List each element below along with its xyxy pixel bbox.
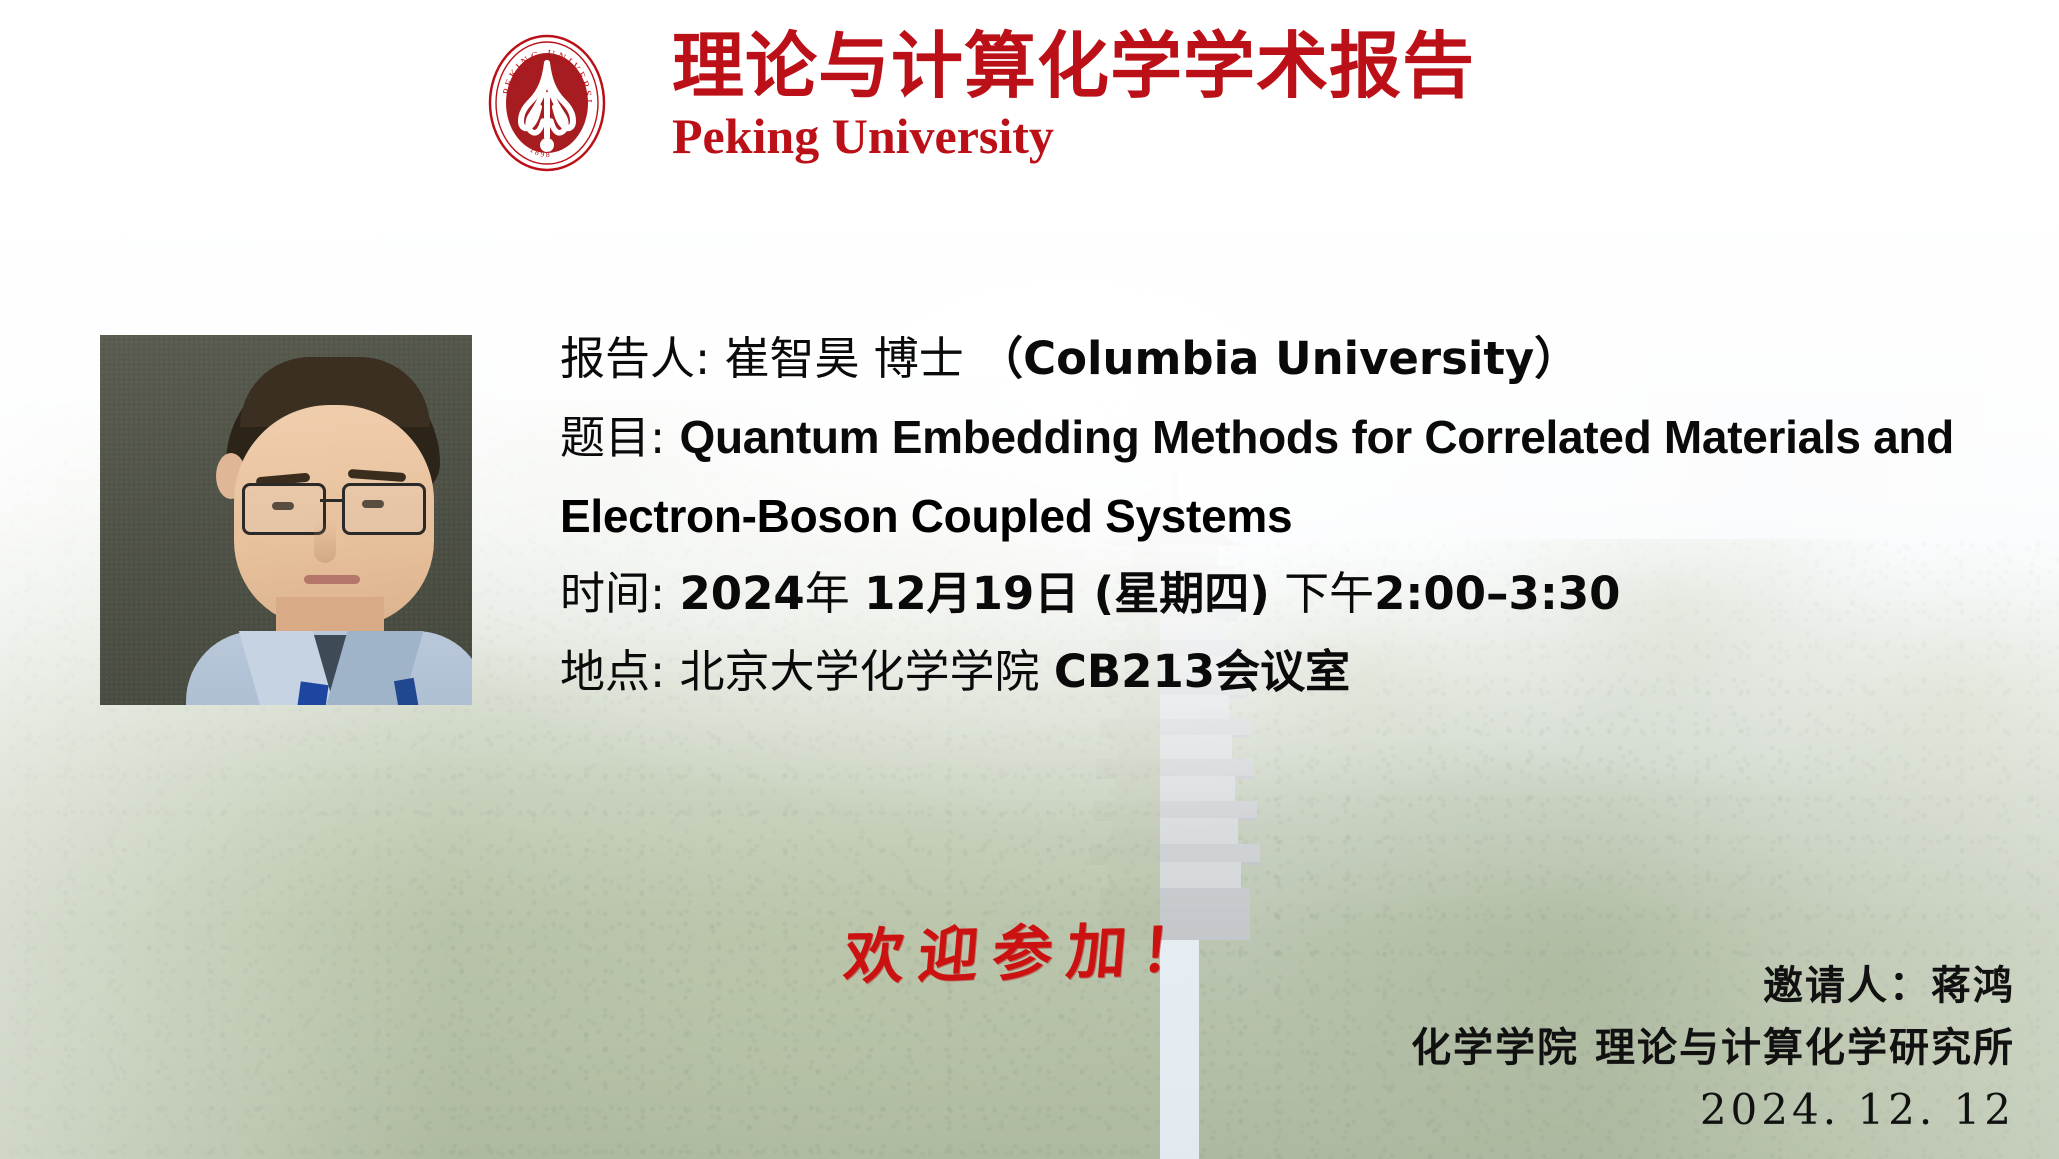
footer-inviter: 邀请人：蒋鸿 [1411, 955, 2015, 1017]
talk-title-label: 题目: [560, 411, 665, 464]
time-label: 时间: [560, 567, 665, 620]
seminar-poster: PEKING UNIVERSITY 1898 理论与计算化学学术报告 Pekin… [0, 0, 2059, 1159]
footer-department: 化学学院 理论与计算化学研究所 [1411, 1017, 2015, 1079]
announcement-details: 报告人: 崔智昊 博士 （Columbia University） 题目: Qu… [560, 320, 1980, 711]
time-weekday: (星期四) [1094, 567, 1270, 620]
welcome-calligraphy: 欢迎参加！ [841, 901, 1219, 996]
time-range: 2:00–3:30 [1374, 567, 1620, 620]
glasses-lens-right [342, 483, 426, 535]
time-month-day: 12月19日 [864, 567, 1079, 620]
time-period: 下午 [1284, 567, 1374, 620]
place-org: 北京大学化学学院 [679, 645, 1039, 698]
speaker-portrait-photo [100, 335, 472, 705]
talk-title-line-1: Quantum Embedding Methods for Correlated… [679, 411, 1954, 463]
time-year-unit: 年 [805, 567, 850, 620]
header-title-en: Peking University [672, 109, 1475, 164]
speaker-label: 报告人: [560, 332, 710, 385]
place-room: CB213会议室 [1054, 645, 1350, 698]
time-row: 时间: 2024年 12月19日 (星期四) 下午2:00–3:30 [560, 555, 1980, 633]
header-text-block: 理论与计算化学学术报告 Peking University [672, 30, 1475, 164]
portrait-glasses [242, 483, 430, 531]
time-year: 2024 [679, 567, 804, 620]
place-label: 地点: [560, 645, 665, 698]
poster-header: PEKING UNIVERSITY 1898 理论与计算化学学术报告 Pekin… [0, 0, 2059, 190]
portrait-mouth [304, 575, 360, 584]
speaker-affiliation: （Columbia University） [978, 332, 1579, 385]
peking-university-seal-icon: PEKING UNIVERSITY 1898 [487, 33, 607, 173]
place-row: 地点: 北京大学化学学院 CB213会议室 [560, 633, 1980, 711]
footer-date: 2024. 12. 12 [1411, 1079, 2015, 1141]
talk-title-line-2: Electron-Boson Coupled Systems [560, 477, 1980, 555]
portrait-nose [314, 521, 336, 563]
speaker-name: 崔智昊 博士 [724, 332, 963, 385]
poster-footer: 邀请人：蒋鸿 化学学院 理论与计算化学研究所 2024. 12. 12 [1411, 955, 2015, 1141]
speaker-row: 报告人: 崔智昊 博士 （Columbia University） [560, 320, 1980, 398]
header-title-cn: 理论与计算化学学术报告 [672, 30, 1475, 103]
talk-title-row: 题目: Quantum Embedding Methods for Correl… [560, 398, 1980, 477]
glasses-bridge [320, 499, 342, 502]
